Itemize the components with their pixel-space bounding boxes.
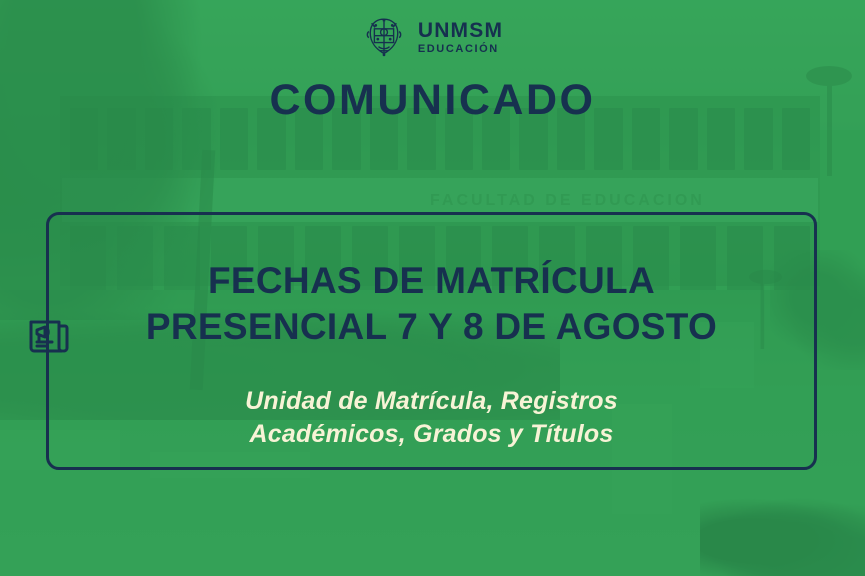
- announcement-poster: FACULTAD DE EDUCACION UNMSM: [0, 0, 865, 576]
- header-logo-row: UNMSM EDUCACIÓN: [0, 14, 865, 60]
- logo-faculty-label: EDUCACIÓN: [418, 44, 503, 55]
- logo-text-block: UNMSM EDUCACIÓN: [418, 20, 503, 55]
- subtitle-line-1: Unidad de Matrícula, Registros: [46, 385, 817, 418]
- logo-institution-label: UNMSM: [418, 20, 503, 41]
- subtitle-line-2: Académicos, Grados y Títulos: [46, 418, 817, 451]
- main-title-line-2: PRESENCIAL 7 Y 8 DE AGOSTO: [46, 304, 817, 350]
- subtitle: Unidad de Matrícula, Registros Académico…: [46, 385, 817, 451]
- unmsm-coat-of-arms-icon: [362, 15, 406, 59]
- main-title: FECHAS DE MATRÍCULA PRESENCIAL 7 Y 8 DE …: [46, 258, 817, 350]
- main-title-line-1: FECHAS DE MATRÍCULA: [46, 258, 817, 304]
- banner-heading: COMUNICADO: [0, 76, 865, 125]
